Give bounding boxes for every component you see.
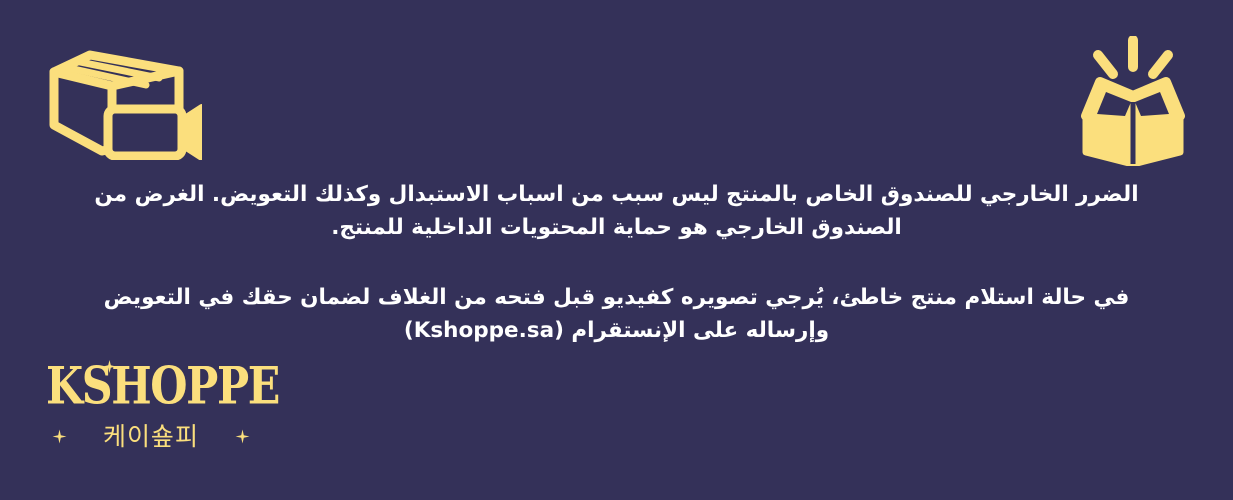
four-point-star-icon	[103, 358, 116, 371]
sparkle-icon-left	[52, 429, 67, 444]
policy-paragraph: الضرر الخارجي للصندوق الخاص بالمنتج ليس …	[70, 178, 1163, 245]
policy-text-block: الضرر الخارجي للصندوق الخاص بالمنتج ليس …	[70, 178, 1163, 347]
instruction-paragraph: في حالة استلام منتج خاطئ، يُرجي تصويره ك…	[70, 281, 1163, 348]
return-policy-banner: الضرر الخارجي للصندوق الخاص بالمنتج ليس …	[0, 0, 1233, 500]
logo-subtitle-row: 케이숖피	[52, 424, 250, 449]
logo-wordmark: KSHOPPE	[46, 360, 241, 412]
logo-subtitle: 케이숖피	[103, 424, 199, 449]
open-box-sparkle-icon	[1068, 36, 1198, 166]
sparkle-icon-right	[235, 429, 250, 444]
kshoppe-logo: KSHOPPE 케이숖피	[46, 360, 256, 465]
package-video-icon	[42, 40, 202, 160]
